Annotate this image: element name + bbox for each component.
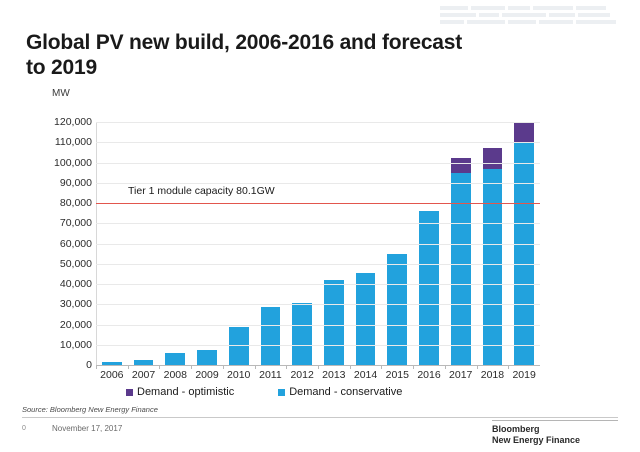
x-axis-tickmark	[508, 365, 509, 369]
watermark-box	[467, 20, 505, 24]
brand-line-2: New Energy Finance	[492, 435, 580, 446]
y-axis-tick-label: 10,000	[34, 339, 92, 351]
bar-segment-conservative	[229, 327, 249, 365]
gridline	[96, 244, 540, 245]
bar-segment-conservative	[292, 303, 312, 365]
gridline	[96, 142, 540, 143]
legend-label: Demand - optimistic	[137, 386, 234, 398]
watermark-row	[440, 20, 630, 24]
brand-logo: Bloomberg New Energy Finance	[492, 424, 580, 446]
source-divider	[22, 417, 618, 418]
x-axis-tick-label: 2006	[100, 369, 123, 381]
x-axis-tick-label: 2013	[322, 369, 345, 381]
watermark-box	[479, 13, 499, 17]
watermark-box	[471, 6, 505, 10]
x-axis-tick-label: 2011	[259, 369, 282, 381]
x-axis-tickmark	[286, 365, 287, 369]
watermark-box	[440, 20, 464, 24]
bar-segment-conservative	[165, 353, 185, 365]
watermark-box	[440, 6, 468, 10]
watermark-box	[502, 13, 546, 17]
x-axis-tickmark	[96, 365, 97, 369]
bar-segment-conservative	[419, 211, 439, 365]
y-axis-tick-label: 80,000	[34, 197, 92, 209]
x-axis-tick-label: 2017	[449, 369, 472, 381]
watermark-row	[440, 6, 630, 10]
bar-segment-optimistic	[483, 148, 503, 168]
y-axis-tick-label: 70,000	[34, 217, 92, 229]
watermark-box	[508, 20, 536, 24]
x-axis-tickmark	[191, 365, 192, 369]
watermark-block	[440, 6, 630, 28]
bar-segment-conservative	[356, 273, 376, 365]
y-axis-tick-label: 40,000	[34, 278, 92, 290]
page-number: 0	[22, 425, 26, 432]
bar-segment-optimistic	[514, 122, 534, 142]
x-axis-tickmark	[413, 365, 414, 369]
x-axis-tick-label: 2008	[164, 369, 187, 381]
legend-item-0[interactable]: Demand - optimistic	[126, 386, 234, 398]
x-axis-tick-label: 2019	[512, 369, 535, 381]
threshold-line	[96, 203, 540, 205]
gridline	[96, 122, 540, 123]
gridline	[96, 345, 540, 346]
legend-item-1[interactable]: Demand - conservative	[278, 386, 402, 398]
bar-segment-conservative	[514, 142, 534, 365]
gridline	[96, 264, 540, 265]
x-axis-tick-label: 2018	[481, 369, 504, 381]
brand-divider	[492, 420, 618, 421]
gridline	[96, 325, 540, 326]
y-axis-tick-label: 110,000	[34, 136, 92, 148]
watermark-box	[549, 13, 575, 17]
x-axis-tickmark	[445, 365, 446, 369]
y-axis-tick-labels: 010,00020,00030,00040,00050,00060,00070,…	[30, 122, 92, 365]
watermark-box	[539, 20, 573, 24]
x-axis-tick-label: 2015	[386, 369, 409, 381]
y-axis-tick-label: 50,000	[34, 258, 92, 270]
watermark-box	[508, 6, 530, 10]
gridline	[96, 284, 540, 285]
plot-area	[96, 122, 540, 365]
x-axis-tickmark	[223, 365, 224, 369]
watermark-box	[576, 6, 606, 10]
axis-unit-label: MW	[52, 88, 70, 99]
gridline	[96, 183, 540, 184]
bar-segment-conservative	[324, 280, 344, 365]
bar-segment-conservative	[483, 169, 503, 365]
x-axis-tickmark	[255, 365, 256, 369]
legend-swatch-icon	[126, 389, 133, 396]
watermark-row	[440, 13, 630, 17]
bar-segment-conservative	[451, 173, 471, 365]
y-axis-tick-label: 30,000	[34, 298, 92, 310]
x-axis-tickmark	[159, 365, 160, 369]
slide-canvas: Global PV new build, 2006-2016 and forec…	[0, 0, 640, 452]
x-axis-tickmark	[318, 365, 319, 369]
y-axis-tick-label: 60,000	[34, 238, 92, 250]
watermark-box	[533, 6, 573, 10]
watermark-box	[440, 13, 476, 17]
x-axis-tick-label: 2012	[290, 369, 313, 381]
footer-date: November 17, 2017	[52, 424, 122, 433]
y-axis-tick-label: 20,000	[34, 319, 92, 331]
legend-swatch-icon	[278, 389, 285, 396]
watermark-box	[578, 13, 610, 17]
gridline	[96, 304, 540, 305]
y-axis-tick-label: 90,000	[34, 177, 92, 189]
legend-label: Demand - conservative	[289, 386, 402, 398]
bar-segment-conservative	[197, 350, 217, 365]
y-axis-tick-label: 0	[34, 359, 92, 371]
gridline	[96, 223, 540, 224]
x-axis-tickmark	[128, 365, 129, 369]
x-axis-tickmark	[477, 365, 478, 369]
x-axis-tickmark	[381, 365, 382, 369]
x-axis-tickmark	[350, 365, 351, 369]
watermark-box	[576, 20, 616, 24]
x-axis-tick-label: 2009	[195, 369, 218, 381]
x-axis-tick-label: 2016	[417, 369, 440, 381]
threshold-label: Tier 1 module capacity 80.1GW	[128, 185, 275, 197]
source-note: Source: Bloomberg New Energy Finance	[22, 405, 158, 414]
x-axis-tick-label: 2014	[354, 369, 377, 381]
bar-segment-conservative	[387, 254, 407, 365]
chart-legend: Demand - optimisticDemand - conservative	[126, 386, 402, 398]
x-axis-tick-label: 2010	[227, 369, 250, 381]
page-title: Global PV new build, 2006-2016 and forec…	[26, 30, 466, 80]
bar-segment-optimistic	[451, 158, 471, 172]
y-axis-tick-label: 120,000	[34, 116, 92, 128]
x-axis-tick-labels: 2006200720082009201020112012201320142015…	[96, 369, 540, 385]
bar-segment-conservative	[261, 307, 281, 365]
y-axis-tick-label: 100,000	[34, 157, 92, 169]
brand-line-1: Bloomberg	[492, 424, 580, 435]
gridline	[96, 163, 540, 164]
x-axis-tick-label: 2007	[132, 369, 155, 381]
